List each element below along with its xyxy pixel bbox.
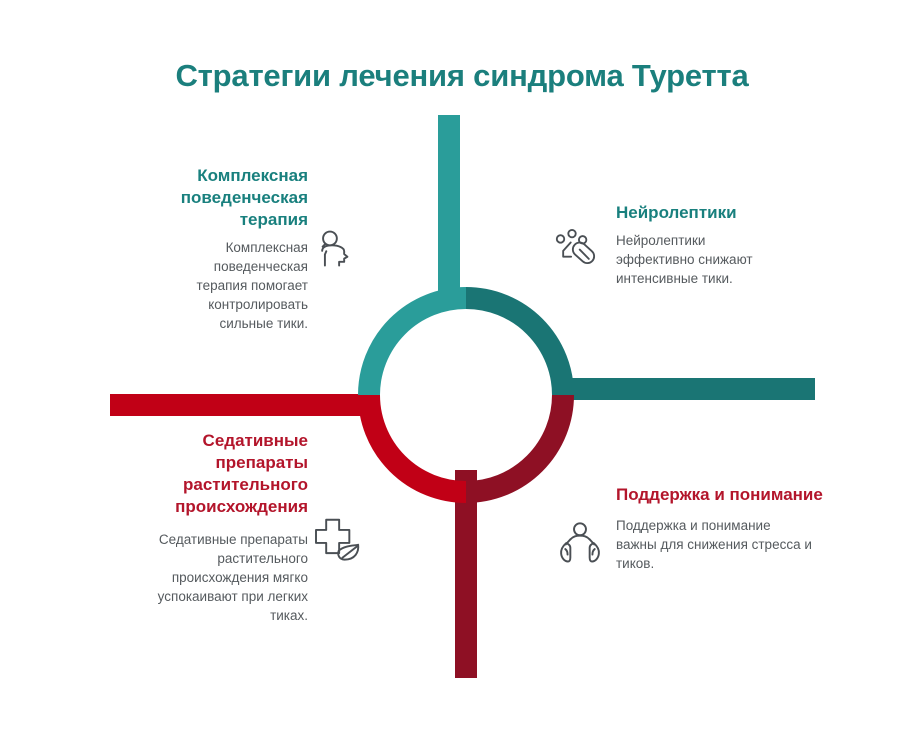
block-neuroleptics-heading: Нейролептики xyxy=(616,202,826,224)
ring-segment-bottom-right xyxy=(466,395,563,492)
person-raised-hands-icon xyxy=(557,521,603,567)
block-support-body: Поддержка и понимание важны для снижения… xyxy=(616,516,812,573)
block-sedatives-heading: Седативные препараты растительного проис… xyxy=(118,430,308,518)
pills-icon xyxy=(553,227,599,273)
ring-segment-top-right xyxy=(466,298,563,395)
block-sedatives: Седативные препараты растительного проис… xyxy=(118,430,308,625)
medical-cross-leaf-icon xyxy=(313,517,369,567)
stem-up xyxy=(438,115,460,305)
block-cbt-heading: Комплексная поведенческая терапия xyxy=(128,165,308,231)
block-neuroleptics: Нейролептики Нейролептики эффективно сни… xyxy=(616,202,826,288)
block-support: Поддержка и понимание Поддержка и понима… xyxy=(616,484,836,573)
stem-right xyxy=(560,378,815,400)
ring-segment-top-left xyxy=(369,298,466,395)
block-support-heading: Поддержка и понимание xyxy=(616,484,836,506)
block-sedatives-body: Седативные препараты растительного проис… xyxy=(156,530,308,625)
block-cbt: Комплексная поведенческая терапия Компле… xyxy=(128,165,308,333)
page-title: Стратегии лечения синдрома Туретта xyxy=(0,58,924,94)
block-cbt-body: Комплексная поведенческая терапия помога… xyxy=(190,238,308,333)
stem-down xyxy=(455,470,477,678)
stem-left xyxy=(110,394,370,416)
person-head-icon xyxy=(313,227,357,271)
ring-segment-bottom-left xyxy=(369,395,466,492)
block-neuroleptics-body: Нейролептики эффективно снижают интенсив… xyxy=(616,231,766,288)
